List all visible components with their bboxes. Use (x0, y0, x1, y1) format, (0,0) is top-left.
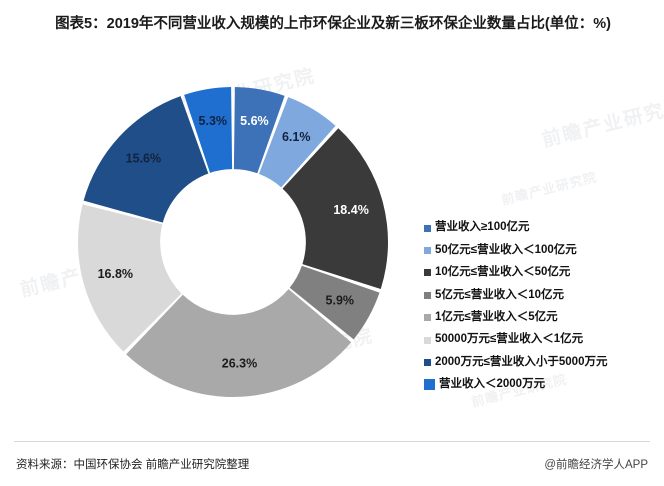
slice-value-label: 5.9% (326, 293, 355, 307)
legend-swatch-icon (424, 379, 435, 390)
page-title: 图表5：2019年不同营业收入规模的上市环保企业及新三板环保企业数量占比(单位：… (38, 14, 628, 35)
legend-item[interactable]: 50000万元≤营业收入＜1亿元 (424, 329, 660, 351)
footer-divider (14, 441, 650, 442)
legend-item[interactable]: 1亿元≤营业收入＜5亿元 (424, 307, 660, 329)
legend-item-label: 10亿元≤营业收入＜50亿元 (435, 267, 570, 279)
donut-chart: 5.6%6.1%18.4%5.9%26.3%16.8%15.6%5.3% (47, 72, 419, 412)
legend-item[interactable]: 营业收入＜2000万元 (424, 374, 660, 396)
legend-item[interactable]: 10亿元≤营业收入＜50亿元 (424, 262, 660, 284)
source-note: 资料来源：中国环保协会 前瞻产业研究院整理 (16, 456, 249, 472)
legend-swatch-icon (424, 292, 431, 299)
plot-area: 5.6%6.1%18.4%5.9%26.3%16.8%15.6%5.3% 营业收… (0, 62, 664, 432)
legend-item-label: 营业收入≥100亿元 (435, 222, 530, 234)
legend-swatch-icon (424, 359, 431, 366)
legend-item[interactable]: 50亿元≤营业收入＜100亿元 (424, 239, 660, 261)
legend-item-label: 1亿元≤营业收入＜5亿元 (435, 312, 558, 324)
legend-swatch-icon (424, 337, 431, 344)
legend-swatch-icon (424, 269, 431, 276)
slice-value-label: 15.6% (126, 151, 161, 165)
app-watermark-note: @前瞻经济学人APP (544, 456, 648, 472)
legend-swatch-icon (424, 314, 431, 321)
legend-item[interactable]: 营业收入≥100亿元 (424, 217, 660, 239)
legend-item-label: 50000万元≤营业收入＜1亿元 (435, 334, 583, 346)
slice-value-label: 26.3% (222, 356, 257, 370)
legend-swatch-icon (424, 225, 431, 232)
slice-value-label: 6.1% (282, 130, 311, 144)
legend-item-label: 营业收入＜2000万元 (439, 379, 545, 391)
legend-item-label: 5亿元≤营业收入＜10亿元 (435, 290, 564, 302)
legend-item-label: 50亿元≤营业收入＜100亿元 (435, 245, 577, 257)
legend-item[interactable]: 5亿元≤营业收入＜10亿元 (424, 284, 660, 306)
donut-slices (78, 87, 388, 397)
slice-value-label: 5.3% (199, 114, 228, 128)
legend-swatch-icon (424, 247, 431, 254)
slice-value-label: 18.4% (333, 203, 368, 217)
donut-svg: 5.6%6.1%18.4%5.9%26.3%16.8%15.6%5.3% (47, 72, 419, 412)
slice-value-label: 16.8% (98, 267, 133, 281)
chart-page: 前瞻产业研究院 前瞻产业研究院 前瞻产业研究院 前瞻产业研究院 前瞻产业研究院 … (0, 0, 664, 486)
legend: 营业收入≥100亿元50亿元≤营业收入＜100亿元10亿元≤营业收入＜50亿元5… (424, 217, 660, 396)
legend-item-label: 2000万元≤营业收入小于5000万元 (435, 357, 607, 369)
slice-value-label: 5.6% (240, 114, 269, 128)
legend-item[interactable]: 2000万元≤营业收入小于5000万元 (424, 351, 660, 373)
